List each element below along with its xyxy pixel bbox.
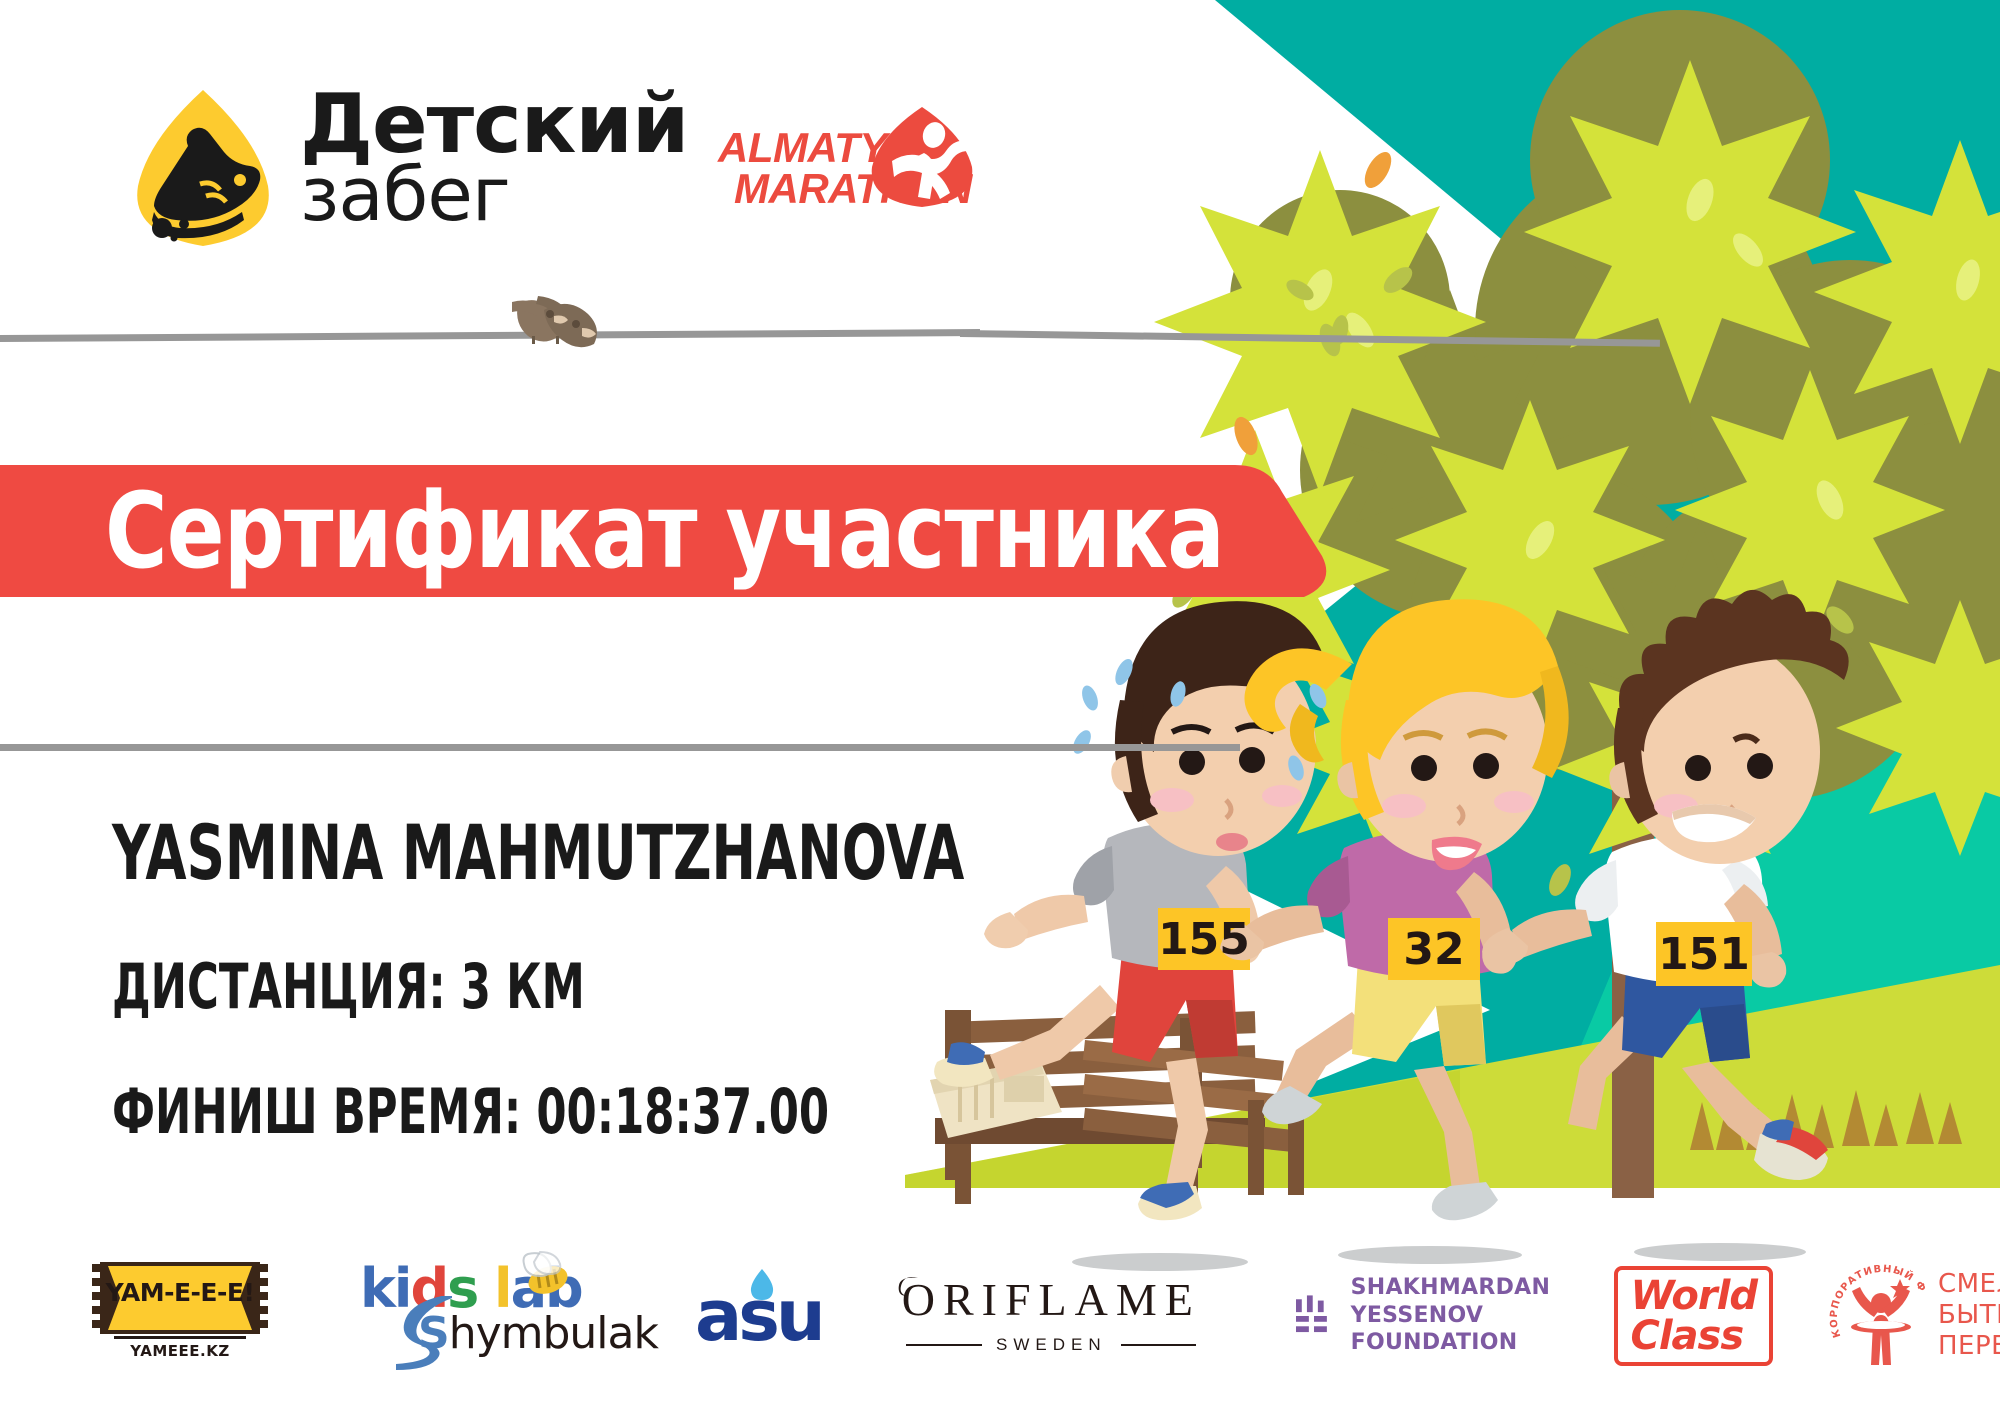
fund-line-1: СМЕЛОСТЬ	[1938, 1269, 2000, 1300]
distance-label: ДИСТАНЦИЯ: 3 КМ	[112, 950, 585, 1023]
yessenov-text: SHAKHMARDAN YESSENOV FOUNDATION	[1351, 1274, 1570, 1357]
yameee-url: YAMEEE.KZ	[90, 1342, 270, 1360]
sponsor-oriflame[interactable]: ORIFLAME SWEDEN	[902, 1251, 1201, 1381]
bib-number-1: 155	[1158, 908, 1250, 970]
yameee-rule	[114, 1336, 246, 1339]
fund-text: СМЕЛОСТЬ БЫТЬ ПЕРВЫМ!	[1938, 1269, 2000, 1361]
sponsor-logos-row: YAM-E-E-E! YAMEEE.KZ kids lab	[80, 1248, 1940, 1383]
oriflame-sub-row: SWEDEN	[906, 1335, 1196, 1355]
sponsor-kidslab[interactable]: kids lab Shymbulak	[360, 1251, 610, 1381]
fund-line-2: БЫТЬ	[1938, 1300, 2000, 1331]
world-class-badge-icon: World Class	[1614, 1266, 1772, 1366]
bib-number-3: 151	[1656, 922, 1752, 986]
sponsor-yessenov[interactable]: SHAKHMARDAN YESSENOV FOUNDATION	[1296, 1251, 1570, 1381]
oriflame-subtitle: SWEDEN	[996, 1335, 1107, 1355]
worldclass-name: World Class	[1630, 1276, 1756, 1356]
oriflame-rule-right	[1121, 1344, 1197, 1346]
two-birds-on-wire-icon	[510, 288, 650, 348]
sponsor-yameee[interactable]: YAM-E-E-E! YAMEEE.KZ	[90, 1251, 270, 1381]
kids-run-logo: Детский забег	[128, 88, 688, 248]
bib-number-2: 32	[1388, 918, 1480, 980]
sneaker-in-teardrop-icon	[128, 88, 278, 248]
wire-lower	[0, 744, 1240, 751]
participant-name: YASMINA MAHMUTZHANOVA	[112, 808, 964, 897]
finish-time-label: ФИНИШ ВРЕМЯ: 00:18:37.00	[112, 1075, 829, 1148]
page-title: Сертификат участника	[105, 458, 1089, 604]
certificate-canvas: Детский забег ALMATY MARATHON Сертификат…	[0, 0, 2000, 1413]
almaty-marathon-logo: ALMATY MARATHON	[718, 105, 978, 235]
oriflame-o-icon	[898, 1275, 924, 1297]
yessenov-line-1: SHAKHMARDAN YESSENOV	[1351, 1274, 1570, 1329]
bee-icon	[510, 1250, 572, 1302]
cheering-figure-icon: КОРПОРАТИВНЫЙ ФОНД	[1828, 1261, 1934, 1371]
sponsor-worldclass[interactable]: World Class	[1614, 1251, 1772, 1381]
fund-line-3: ПЕРВЫМ!	[1938, 1331, 2000, 1362]
water-drop-icon	[749, 1267, 775, 1301]
oriflame-rule-left	[906, 1344, 982, 1346]
kidslab-bottom: Shymbulak	[418, 1312, 658, 1356]
oriflame-name: ORIFLAME	[902, 1277, 1201, 1323]
sponsor-asu[interactable]: asu	[695, 1251, 822, 1381]
running-figure-icon	[868, 105, 976, 209]
yessenov-line-2: FOUNDATION	[1351, 1329, 1570, 1357]
yameee-name: YAM-E-E-E!	[90, 1278, 270, 1307]
bar-blocks-icon	[1296, 1284, 1331, 1348]
sponsor-courage-fund[interactable]: КОРПОРАТИВНЫЙ ФОНД СМЕЛОСТЬ БЫТЬ ПЕРВЫМ!	[1828, 1251, 2000, 1381]
